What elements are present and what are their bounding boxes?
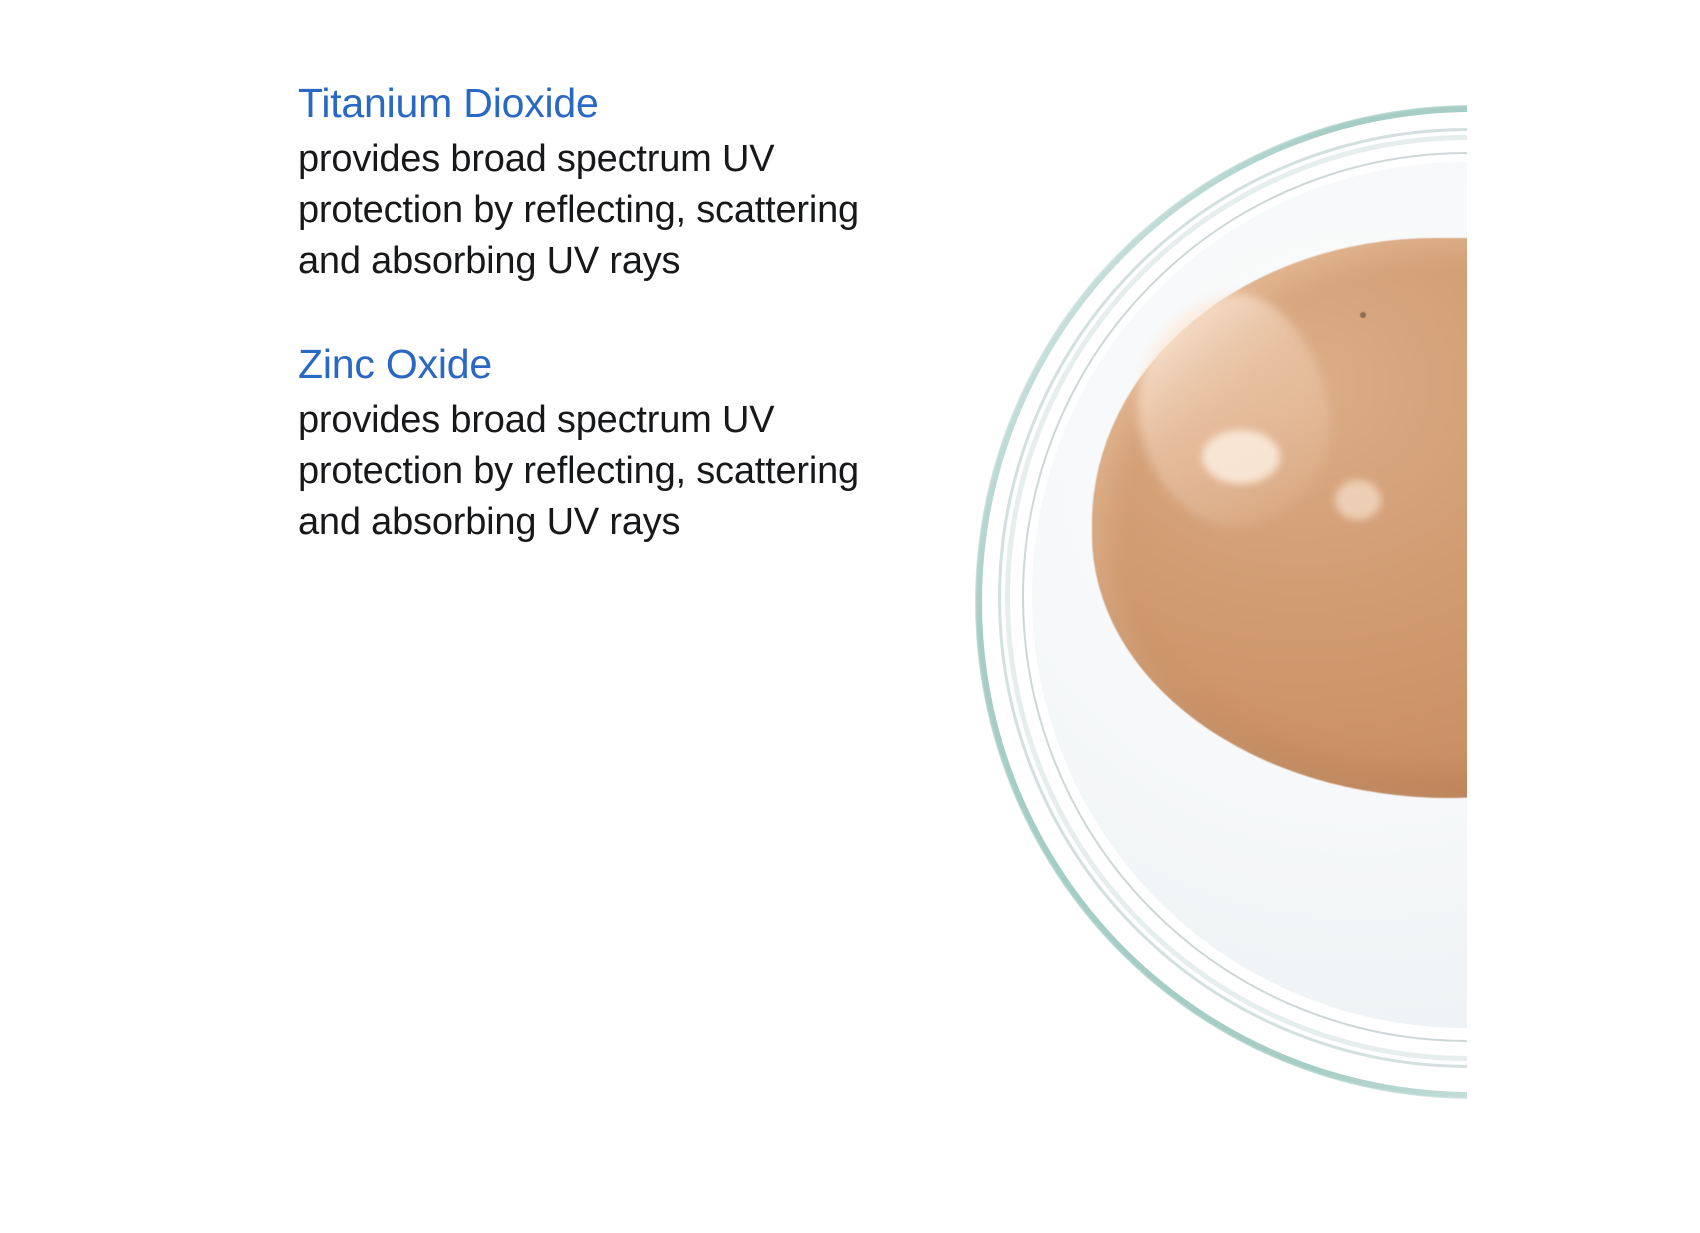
cream-highlight-tertiary: [1335, 480, 1381, 520]
ingredient-description-zinc-oxide: provides broad spectrum UV protection by…: [298, 395, 878, 548]
slide-canvas: Titanium Dioxide provides broad spectrum…: [0, 0, 1700, 1233]
ingredient-text-column: Titanium Dioxide provides broad spectrum…: [298, 78, 898, 547]
cream-highlight-secondary: [1202, 430, 1280, 484]
petri-dish-photo: [880, 0, 1467, 1233]
ingredient-name-zinc-oxide: Zinc Oxide: [298, 339, 898, 389]
ingredient-name-titanium-dioxide: Titanium Dioxide: [298, 78, 898, 128]
ingredient-description-titanium-dioxide: provides broad spectrum UV protection by…: [298, 134, 878, 287]
ingredient-block-titanium-dioxide: Titanium Dioxide provides broad spectrum…: [298, 78, 898, 287]
ingredient-block-zinc-oxide: Zinc Oxide provides broad spectrum UV pr…: [298, 339, 898, 548]
cream-speck: [1360, 312, 1366, 318]
